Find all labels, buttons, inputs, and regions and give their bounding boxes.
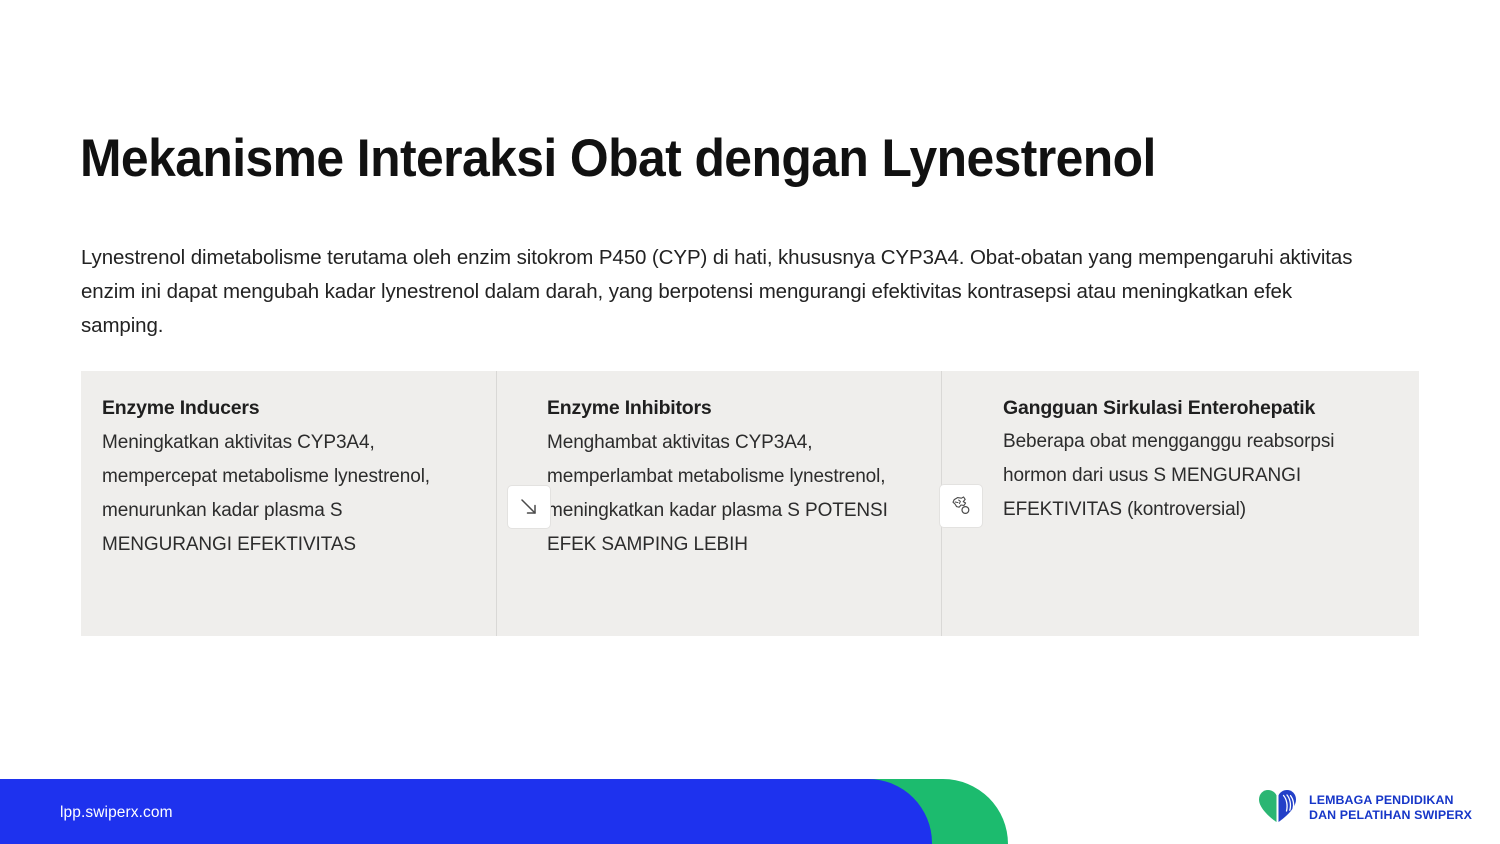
connector-box-1 <box>507 485 551 529</box>
intro-paragraph: Lynestrenol dimetabolisme terutama oleh … <box>81 241 1361 343</box>
card-body: Meningkatkan aktivitas CYP3A4, mempercep… <box>102 426 458 562</box>
card-body: Beberapa obat mengganggu reabsorpsi horm… <box>1003 425 1359 527</box>
card-gangguan-sirkulasi-enterohepatik: Gangguan Sirkulasi Enterohepatik Beberap… <box>941 371 1419 636</box>
brand-logo-line-1: LEMBAGA PENDIDIKAN <box>1309 793 1472 808</box>
molecule-cluster-icon <box>949 494 973 518</box>
slide-canvas: Mekanisme Interaksi Obat dengan Lynestre… <box>0 0 1500 844</box>
card-body: Menghambat aktivitas CYP3A4, memperlamba… <box>547 426 903 562</box>
card-title: Gangguan Sirkulasi Enterohepatik <box>1003 395 1359 421</box>
card-title: Enzyme Inducers <box>102 395 458 422</box>
card-enzyme-inhibitors: Enzyme Inhibitors Menghambat aktivitas C… <box>496 371 941 636</box>
arrow-down-right-icon <box>518 496 540 518</box>
mechanism-cards-strip: Enzyme Inducers Meningkatkan aktivitas C… <box>81 371 1419 636</box>
footer-url[interactable]: lpp.swiperx.com <box>60 804 173 822</box>
card-enzyme-inducers: Enzyme Inducers Meningkatkan aktivitas C… <box>81 371 496 636</box>
brand-logo-text: LEMBAGA PENDIDIKAN DAN PELATIHAN SWIPERX <box>1309 793 1472 823</box>
heart-book-logo-icon <box>1256 786 1300 829</box>
connector-box-2 <box>939 484 983 528</box>
page-title: Mekanisme Interaksi Obat dengan Lynestre… <box>80 128 1340 190</box>
brand-logo: LEMBAGA PENDIDIKAN DAN PELATIHAN SWIPERX <box>1256 786 1472 829</box>
card-title: Enzyme Inhibitors <box>547 395 903 422</box>
brand-logo-line-2: DAN PELATIHAN SWIPERX <box>1309 808 1472 823</box>
